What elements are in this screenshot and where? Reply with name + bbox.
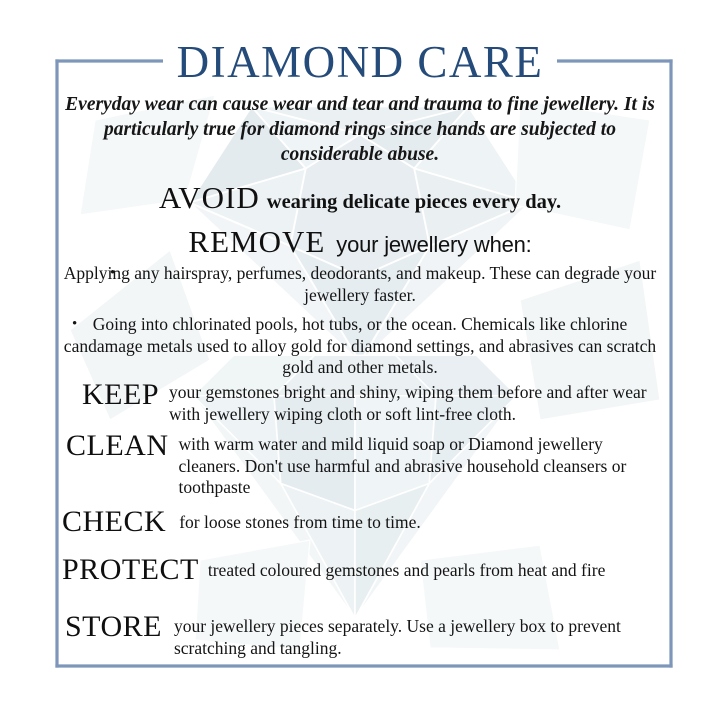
page-title-text: DIAMOND CARE xyxy=(163,37,558,87)
remove-keyword: REMOVE xyxy=(188,224,325,259)
care-step-text: for loose stones from time to time. xyxy=(166,505,421,534)
care-step-store: STORE your jewellery pieces separately. … xyxy=(60,610,665,659)
list-item-text: Applying any hairspray, perfumes, deodor… xyxy=(64,263,656,305)
list-item: • Applying any hairspray, perfumes, deod… xyxy=(60,263,660,306)
bullet-marker: • xyxy=(110,263,115,285)
care-step-check: CHECK for loose stones from time to time… xyxy=(60,505,665,539)
care-step-clean: CLEAN with warm water and mild liquid so… xyxy=(60,429,665,499)
remove-bullet-list: • Applying any hairspray, perfumes, deod… xyxy=(60,263,660,387)
care-step-keyword: PROTECT xyxy=(60,553,199,587)
avoid-keyword: AVOID xyxy=(159,180,260,215)
care-step-keyword: KEEP xyxy=(60,378,159,412)
care-step-keyword: CHECK xyxy=(60,505,166,539)
care-step-keyword: STORE xyxy=(60,610,162,644)
care-step-keyword: CLEAN xyxy=(60,429,169,463)
care-step-keep: KEEP your gemstones bright and shiny, wi… xyxy=(60,378,665,425)
list-item-text: Going into chlorinated pools, hot tubs, … xyxy=(64,314,656,377)
page-title: DIAMOND CARE xyxy=(0,40,720,85)
care-step-protect: PROTECT treated coloured gemstones and p… xyxy=(60,553,665,587)
intro-paragraph: Everyday wear can cause wear and tear an… xyxy=(60,92,660,167)
care-step-text: your gemstones bright and shiny, wiping … xyxy=(159,378,665,425)
remove-line: REMOVEyour jewellery when: xyxy=(60,224,660,260)
care-step-text: treated coloured gemstones and pearls fr… xyxy=(199,553,605,582)
avoid-line: AVOIDwearing delicate pieces every day. xyxy=(60,180,660,216)
care-step-text: with warm water and mild liquid soap or … xyxy=(169,429,666,499)
care-step-text: your jewellery pieces separately. Use a … xyxy=(162,610,665,659)
bullet-marker: • xyxy=(72,314,77,336)
list-item: • Going into chlorinated pools, hot tubs… xyxy=(60,314,660,379)
avoid-text: wearing delicate pieces every day. xyxy=(267,191,561,213)
remove-text: your jewellery when: xyxy=(336,232,531,257)
